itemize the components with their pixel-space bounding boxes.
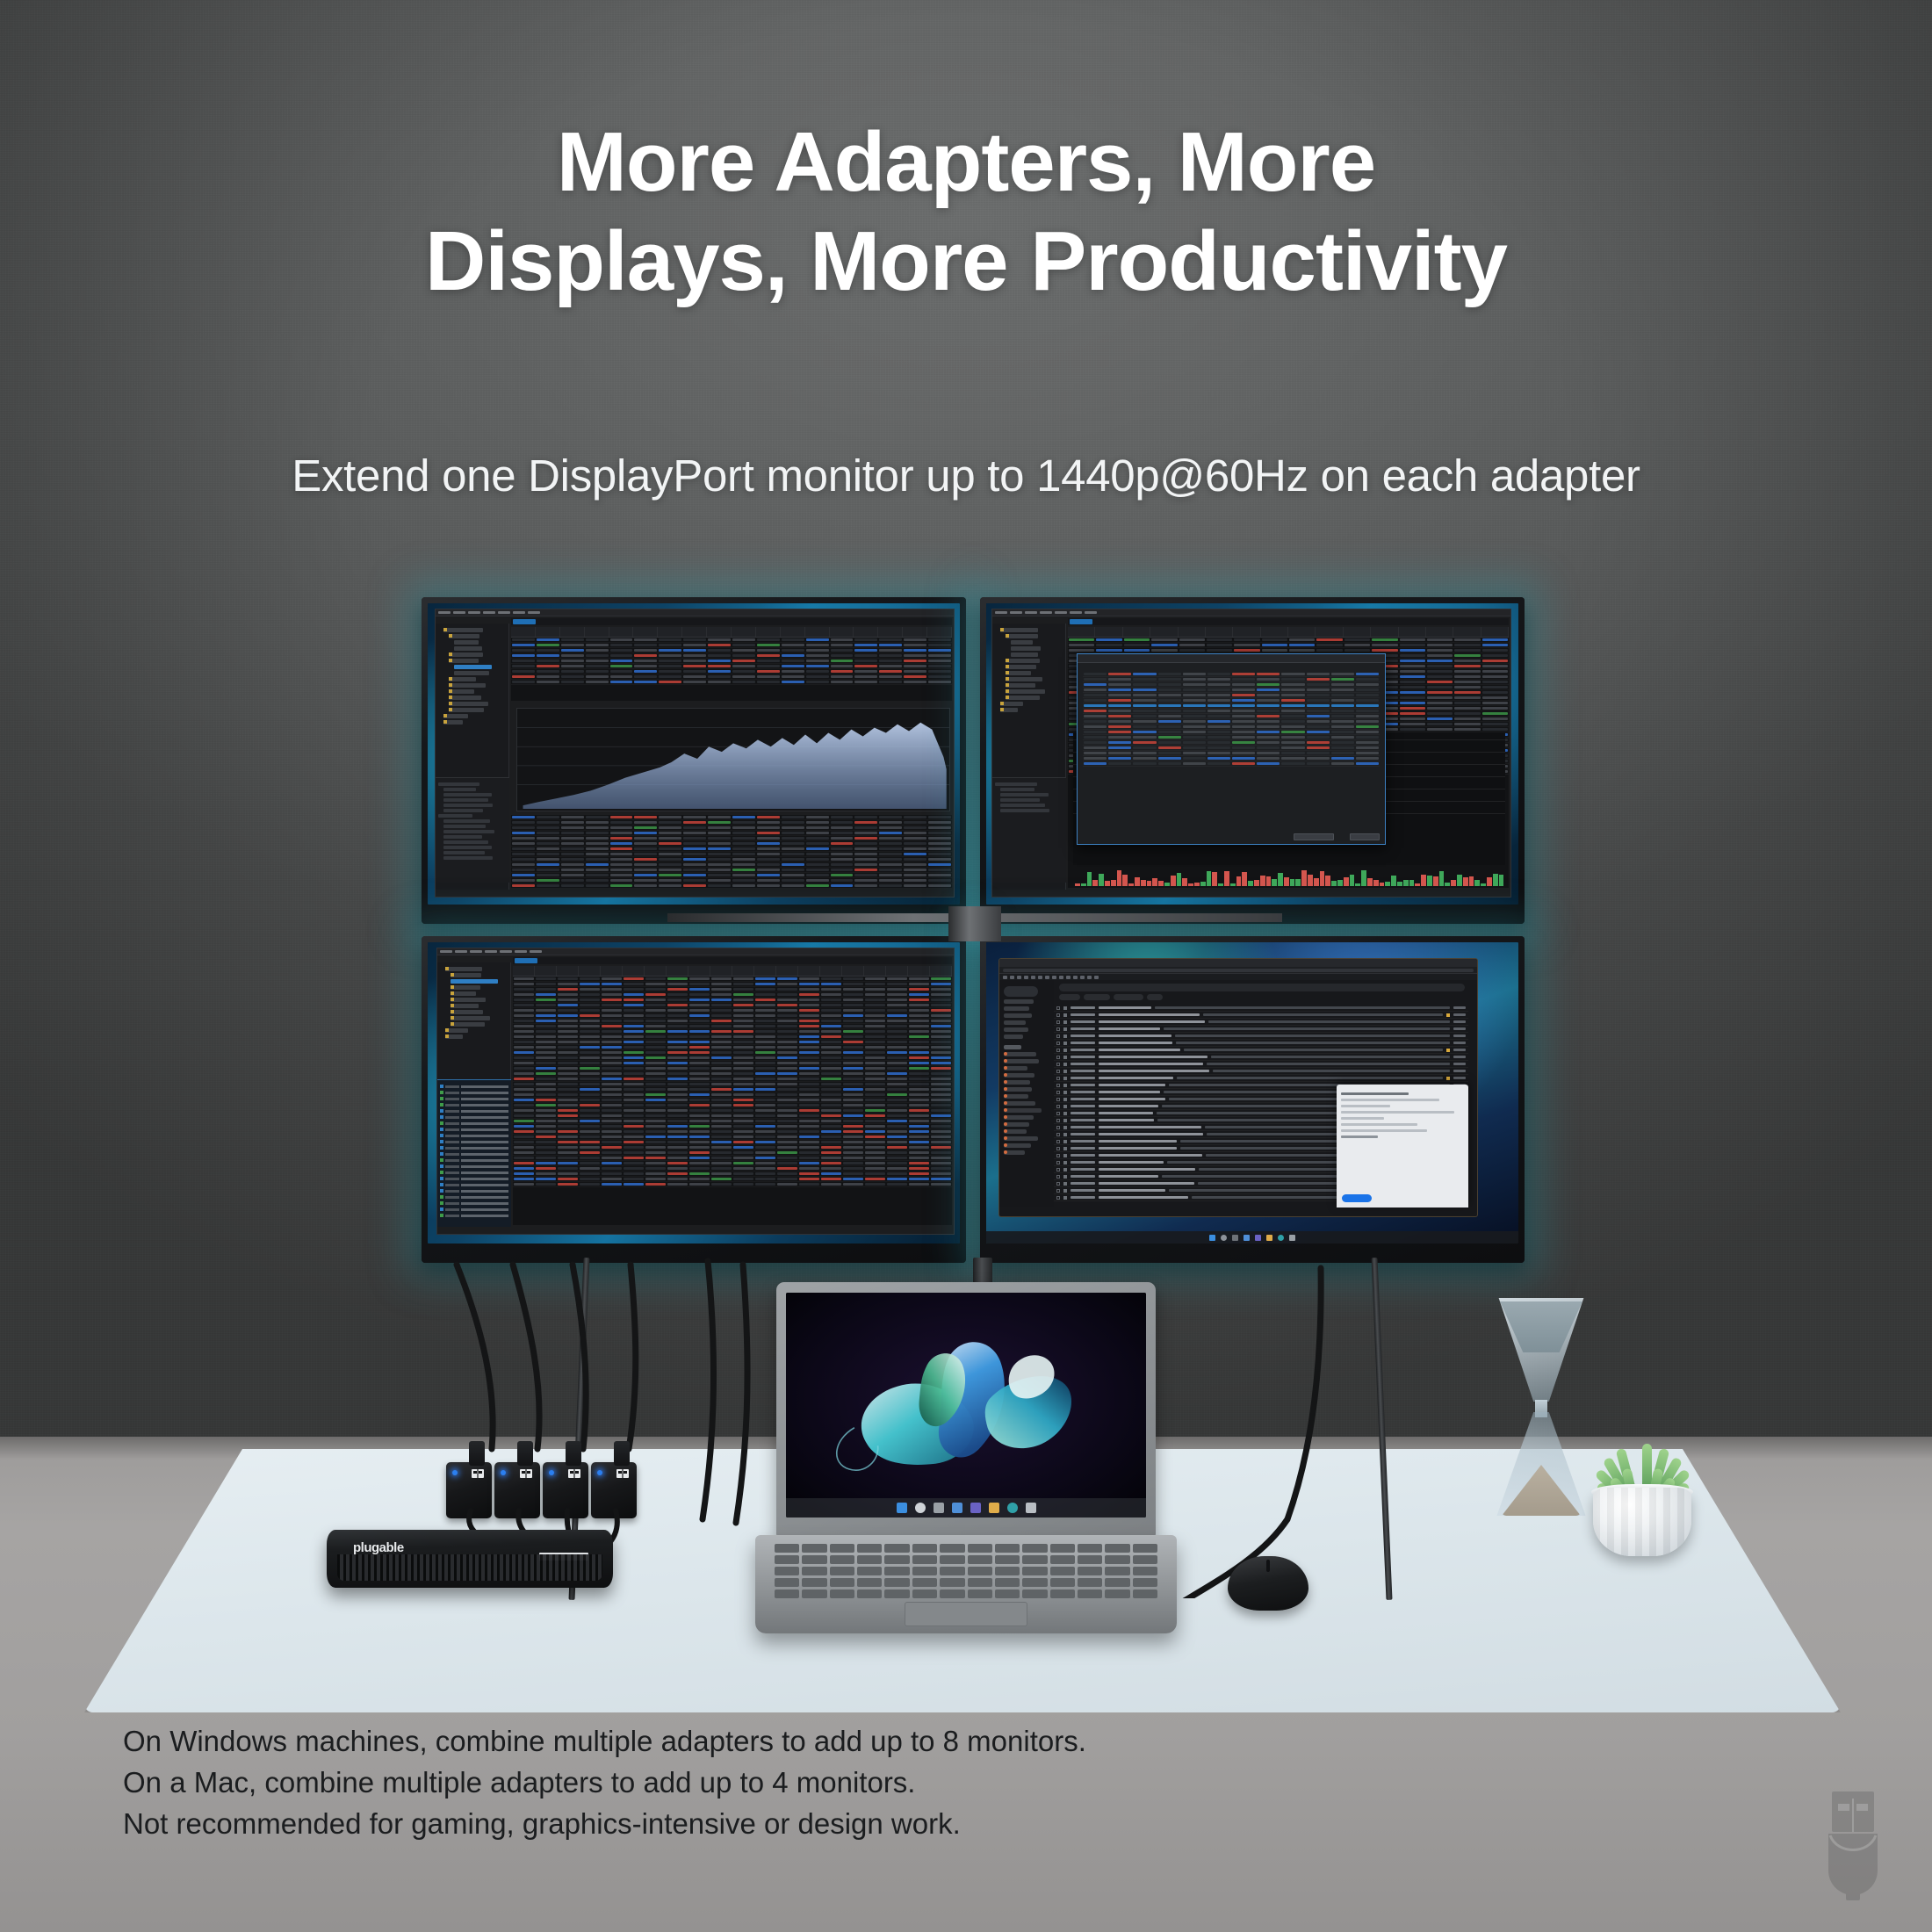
email-row[interactable] [1054, 1068, 1468, 1075]
task-view-icon[interactable] [934, 1503, 944, 1513]
sidebar-label[interactable] [1004, 1122, 1029, 1127]
sidebar-item-inbox[interactable] [1004, 999, 1034, 1004]
app-tabs[interactable] [511, 618, 952, 625]
star-icon[interactable] [1063, 1196, 1067, 1200]
volume-bar [1111, 880, 1116, 886]
attachment-icon [1446, 1077, 1450, 1080]
properties-panel [992, 777, 1066, 883]
sidebar-label[interactable] [1004, 1101, 1035, 1106]
checkbox[interactable] [1056, 1119, 1060, 1122]
positions-grid-bottom[interactable] [511, 815, 952, 888]
sidebar-item-sent[interactable] [1004, 1020, 1026, 1025]
app-tabs[interactable] [1068, 618, 1509, 625]
star-icon[interactable] [1063, 1182, 1067, 1186]
volume-bar [1469, 876, 1474, 886]
log-entry [440, 1127, 508, 1132]
volume-bar [1493, 874, 1498, 886]
volume-bar [1427, 876, 1432, 886]
keyboard-key[interactable] [1105, 1590, 1129, 1598]
volume-bar [1487, 877, 1492, 886]
checkbox[interactable] [1056, 1182, 1060, 1186]
edge-icon[interactable] [1007, 1503, 1018, 1513]
gmail-sidebar[interactable] [999, 980, 1054, 1207]
star-icon[interactable] [1063, 1034, 1067, 1038]
sidebar-label[interactable] [1004, 1087, 1032, 1092]
keyboard-key[interactable] [1022, 1555, 1047, 1564]
keyboard-key[interactable] [802, 1555, 826, 1564]
checkbox[interactable] [1056, 1147, 1060, 1150]
volume-bar [1439, 871, 1445, 886]
sidebar-label[interactable] [1004, 1080, 1030, 1085]
volume-bar [1463, 877, 1468, 886]
sand-hourglass [1493, 1298, 1590, 1535]
email-row[interactable] [1054, 1061, 1468, 1068]
star-icon[interactable] [1063, 1006, 1067, 1010]
keyboard-key[interactable] [912, 1578, 937, 1587]
volume-bar [1337, 880, 1343, 886]
navigator-tree[interactable] [436, 624, 509, 890]
email-row[interactable] [1054, 1026, 1468, 1033]
bookmarks-bar[interactable] [999, 974, 1477, 980]
usb-icon [518, 1467, 534, 1481]
volume-bar [1188, 883, 1193, 886]
checkbox[interactable] [1056, 1105, 1060, 1108]
volume-bar [1128, 883, 1134, 886]
start-icon[interactable] [897, 1503, 907, 1513]
email-row[interactable] [1054, 1019, 1468, 1026]
sidebar-label[interactable] [1004, 1129, 1027, 1134]
volume-bar [1158, 881, 1164, 886]
sender [1071, 1189, 1095, 1192]
table-row[interactable] [1083, 761, 1380, 767]
navigator-tree[interactable] [992, 624, 1066, 890]
sidebar-label[interactable] [1004, 1059, 1039, 1063]
star-icon[interactable] [1063, 1027, 1067, 1031]
keyboard-key[interactable] [802, 1578, 826, 1587]
browser-window-gmail [998, 958, 1478, 1217]
keyboard-key[interactable] [940, 1578, 964, 1587]
checkbox[interactable] [1056, 1154, 1060, 1157]
keyboard-key[interactable] [802, 1567, 826, 1575]
widgets-icon[interactable] [952, 1503, 962, 1513]
checkbox[interactable] [1056, 1175, 1060, 1179]
keyboard-key[interactable] [830, 1555, 854, 1564]
monitor-bezel [980, 597, 1525, 924]
volume-bar [1194, 883, 1200, 886]
sidebar-labels-heading [1004, 1045, 1021, 1049]
keyboard-key[interactable] [830, 1590, 854, 1598]
star-icon[interactable] [1063, 1112, 1067, 1115]
keyboard-key[interactable] [968, 1567, 992, 1575]
checkbox[interactable] [1056, 1168, 1060, 1171]
checkbox[interactable] [1056, 1034, 1060, 1038]
keyboard-key[interactable] [995, 1555, 1020, 1564]
send-button[interactable] [1342, 1194, 1372, 1202]
keyboard-key[interactable] [1078, 1544, 1102, 1553]
sender [1071, 1027, 1095, 1030]
volume-bar [1117, 870, 1122, 886]
star-icon[interactable] [1063, 1168, 1067, 1171]
keyboard-key[interactable] [1133, 1578, 1157, 1587]
keyboard-key[interactable] [968, 1555, 992, 1564]
checkbox[interactable] [1056, 1133, 1060, 1136]
volume-bar [1260, 876, 1265, 886]
keyboard-key[interactable] [857, 1555, 882, 1564]
positions-grid-top[interactable] [511, 627, 952, 701]
keyboard-key[interactable] [1105, 1555, 1129, 1564]
adapter-connector [614, 1441, 630, 1466]
volume-bar [1344, 877, 1349, 886]
keyboard-key[interactable] [995, 1544, 1020, 1553]
usb-connector-icon [1816, 1790, 1890, 1902]
email-row[interactable] [1054, 1005, 1468, 1012]
app-menubar[interactable] [436, 609, 954, 616]
star-icon[interactable] [1063, 1147, 1067, 1150]
keyboard-key[interactable] [1133, 1567, 1157, 1575]
dialog-titlebar[interactable] [1078, 654, 1385, 663]
volume-bar [1105, 881, 1110, 886]
keyboard-key[interactable] [884, 1555, 909, 1564]
keyboard-key[interactable] [1050, 1567, 1075, 1575]
checkbox[interactable] [1056, 1063, 1060, 1066]
checkbox[interactable] [1056, 1126, 1060, 1129]
sender [1071, 1147, 1095, 1150]
sender [1071, 1119, 1095, 1121]
star-icon[interactable] [1063, 1091, 1067, 1094]
keyboard-key[interactable] [775, 1578, 799, 1587]
star-icon[interactable] [1063, 1140, 1067, 1143]
volume-bar [1284, 877, 1289, 886]
sender [1071, 1175, 1095, 1178]
sender [1071, 1006, 1095, 1009]
star-icon[interactable] [1063, 1056, 1067, 1059]
star-icon[interactable] [1063, 1042, 1067, 1045]
file-explorer-icon[interactable] [989, 1503, 999, 1513]
star-icon[interactable] [1063, 1084, 1067, 1087]
volume-bar [1499, 875, 1504, 886]
sidebar-label[interactable] [1004, 1136, 1038, 1141]
volume-bar [1135, 877, 1140, 886]
keyboard-key[interactable] [1133, 1555, 1157, 1564]
log-entry [440, 1213, 508, 1218]
log-entry [440, 1102, 508, 1107]
keyboard-key[interactable] [968, 1544, 992, 1553]
volume-bar [1421, 875, 1426, 886]
log-entry [440, 1121, 508, 1126]
search-filter-chips[interactable] [1059, 994, 1465, 1000]
keyboard-key[interactable] [884, 1544, 909, 1553]
sender [1071, 1140, 1095, 1143]
keyboard-key[interactable] [912, 1567, 937, 1575]
succulent-plant [1586, 1424, 1700, 1558]
browser-tabstrip[interactable] [999, 959, 1477, 967]
white-ceramic-pot [1593, 1488, 1691, 1556]
blue-status-led [501, 1470, 506, 1475]
sidebar-item-more[interactable] [1004, 1034, 1023, 1039]
teams-icon[interactable] [970, 1503, 981, 1513]
email-row[interactable] [1054, 1012, 1468, 1019]
keyboard-key[interactable] [912, 1590, 937, 1598]
app-menubar[interactable] [992, 609, 1510, 616]
email-row[interactable] [1054, 1054, 1468, 1061]
keyboard-key[interactable] [968, 1590, 992, 1598]
volume-bar [1075, 883, 1080, 886]
volume-bar [1092, 880, 1098, 886]
sidebar-label[interactable] [1004, 1052, 1036, 1056]
star-icon[interactable] [1063, 1013, 1067, 1017]
log-entry [440, 1164, 508, 1169]
gmail-search-input[interactable] [1059, 984, 1465, 991]
volume-bar [1320, 871, 1325, 886]
keyboard-key[interactable] [884, 1567, 909, 1575]
keyboard-key[interactable] [830, 1544, 854, 1553]
footnote-line-1: On Windows machines, combine multiple ad… [123, 1721, 1528, 1763]
volume-bar [1373, 880, 1379, 886]
keyboard-key[interactable] [1078, 1567, 1102, 1575]
monitor-bezel [422, 936, 966, 1263]
footnote-line-2: On a Mac, combine multiple adapters to a… [123, 1763, 1528, 1804]
keyboard-key[interactable] [1022, 1578, 1047, 1587]
star-icon[interactable] [1063, 1175, 1067, 1179]
star-icon[interactable] [1063, 1105, 1067, 1108]
sidebar-label-selected[interactable] [1004, 1108, 1042, 1113]
checkbox[interactable] [1056, 1189, 1060, 1193]
keyboard-key[interactable] [1078, 1578, 1102, 1587]
volume-bar [1314, 878, 1319, 886]
log-entry [440, 1182, 508, 1187]
sidebar-item-snoozed[interactable] [1004, 1013, 1032, 1018]
search-icon[interactable] [915, 1503, 926, 1513]
checkbox[interactable] [1056, 1084, 1060, 1087]
volume-bar [1403, 880, 1409, 886]
volume-bar [1391, 876, 1396, 886]
star-icon[interactable] [1063, 1049, 1067, 1052]
checkbox[interactable] [1056, 1161, 1060, 1164]
keyboard-key[interactable] [1105, 1567, 1129, 1575]
table-row[interactable] [513, 1182, 952, 1187]
keyboard-key[interactable] [857, 1590, 882, 1598]
keyboard-key[interactable] [940, 1555, 964, 1564]
wireless-mouse[interactable] [1228, 1556, 1308, 1611]
keyboard-key[interactable] [1022, 1567, 1047, 1575]
keyboard-key[interactable] [802, 1544, 826, 1553]
volume-bar [1230, 883, 1236, 886]
table-row[interactable] [511, 883, 952, 888]
store-icon[interactable] [1026, 1503, 1036, 1513]
volume-bar [1290, 879, 1295, 886]
sender [1071, 1112, 1095, 1114]
checkbox[interactable] [1056, 1091, 1060, 1094]
checkbox[interactable] [1056, 1027, 1060, 1031]
star-icon[interactable] [1063, 1189, 1067, 1193]
keyboard-key[interactable] [1022, 1590, 1047, 1598]
volume-bar [1207, 871, 1212, 886]
monitor-bezel [980, 936, 1525, 1263]
star-icon[interactable] [1063, 1077, 1067, 1080]
keyboard-key[interactable] [857, 1544, 882, 1553]
email-row[interactable] [1054, 1033, 1468, 1040]
keyboard-key[interactable] [775, 1544, 799, 1553]
sender [1071, 1063, 1095, 1065]
checkbox[interactable] [1056, 1098, 1060, 1101]
email-row[interactable] [1054, 1075, 1468, 1082]
star-icon[interactable] [1063, 1070, 1067, 1073]
volume-bar [1164, 883, 1170, 886]
keyboard-key[interactable] [968, 1578, 992, 1587]
volume-bar [1397, 882, 1402, 886]
keyboard-key[interactable] [995, 1567, 1020, 1575]
checkbox[interactable] [1056, 1196, 1060, 1200]
star-icon[interactable] [1063, 1161, 1067, 1164]
sender [1071, 1049, 1095, 1051]
table-row[interactable] [511, 680, 952, 685]
keyboard-key[interactable] [857, 1578, 882, 1587]
import-status-log[interactable] [437, 1079, 511, 1227]
star-icon[interactable] [1063, 1154, 1067, 1157]
email-row[interactable] [1054, 1047, 1468, 1054]
checkbox[interactable] [1056, 1006, 1060, 1010]
laptop-lid [776, 1282, 1156, 1537]
monitor-screen-top-right [986, 603, 1518, 905]
area-chart-svg [517, 709, 949, 811]
keyboard-key[interactable] [940, 1590, 964, 1598]
sender [1071, 1154, 1095, 1157]
email-row[interactable] [1054, 1040, 1468, 1047]
keyboard-key[interactable] [1050, 1544, 1075, 1553]
keyboard-key[interactable] [1050, 1590, 1075, 1598]
log-entry [440, 1151, 508, 1157]
sidebar-item-drafts[interactable] [1004, 1027, 1028, 1032]
keyboard-key[interactable] [1078, 1590, 1102, 1598]
checkbox[interactable] [1056, 1140, 1060, 1143]
checkbox[interactable] [1056, 1056, 1060, 1059]
star-icon[interactable] [1063, 1133, 1067, 1136]
keyboard-key[interactable] [1022, 1544, 1047, 1553]
sidebar-label[interactable] [1004, 1073, 1034, 1078]
volume-bar [1433, 876, 1438, 886]
checkbox[interactable] [1056, 1013, 1060, 1017]
sidebar-label[interactable] [1004, 1115, 1034, 1120]
cancel-button[interactable] [1350, 833, 1380, 840]
volume-bar [1212, 872, 1217, 886]
assign-strategies-button[interactable] [1294, 833, 1334, 840]
adapter-cable-2 [513, 1265, 539, 1449]
keyboard-key[interactable] [830, 1578, 854, 1587]
monitor-stand-center-post [948, 906, 1001, 941]
sender [1071, 1070, 1095, 1072]
keyboard-key[interactable] [1105, 1578, 1129, 1587]
monitor-top-left [422, 597, 966, 924]
keyboard-key[interactable] [940, 1567, 964, 1575]
laptop-keyboard[interactable] [775, 1544, 1157, 1598]
volume-bar [1182, 878, 1187, 886]
checkbox[interactable] [1056, 1020, 1060, 1024]
sidebar-label[interactable] [1004, 1066, 1027, 1071]
keyboard-key[interactable] [995, 1590, 1020, 1598]
volume-bar [1081, 883, 1086, 886]
keyboard-key[interactable] [884, 1590, 909, 1598]
checkbox[interactable] [1056, 1042, 1060, 1045]
keyboard-key[interactable] [802, 1590, 826, 1598]
assign-options-strategies-dialog[interactable] [1077, 653, 1386, 845]
app-menubar[interactable] [437, 948, 954, 955]
laptop-taskbar[interactable] [786, 1498, 1146, 1517]
app-window-open-positions [435, 609, 955, 898]
checkbox[interactable] [1056, 1049, 1060, 1052]
hourglass-sand-top [1500, 1301, 1582, 1352]
monitor-screen-bottom-right [986, 942, 1518, 1244]
sidebar-label[interactable] [1004, 1143, 1031, 1148]
keyboard-key[interactable] [775, 1567, 799, 1575]
checkbox[interactable] [1056, 1070, 1060, 1073]
star-icon[interactable] [1063, 1063, 1067, 1066]
keyboard-key[interactable] [1078, 1555, 1102, 1564]
keyboard-key[interactable] [884, 1578, 909, 1587]
checkbox[interactable] [1056, 1112, 1060, 1115]
star-icon[interactable] [1063, 1098, 1067, 1101]
keyboard-key[interactable] [912, 1555, 937, 1564]
keyboard-key[interactable] [995, 1578, 1020, 1587]
compose-button[interactable] [1004, 986, 1038, 997]
sidebar-item-starred[interactable] [1004, 1006, 1029, 1011]
plugable-usb-dock[interactable]: plugable [327, 1530, 613, 1588]
keyboard-key[interactable] [775, 1555, 799, 1564]
volume-bar [1122, 875, 1128, 886]
monitor-array [422, 597, 1528, 1265]
keyboard-key[interactable] [1133, 1590, 1157, 1598]
checkbox[interactable] [1056, 1077, 1060, 1080]
sender [1071, 1056, 1095, 1058]
keyboard-key[interactable] [1105, 1544, 1129, 1553]
compose-window[interactable] [1337, 1085, 1468, 1207]
running-pl-area-chart [516, 708, 950, 811]
sender [1071, 1126, 1095, 1128]
log-entry [440, 1145, 508, 1150]
keyboard-key[interactable] [1050, 1578, 1075, 1587]
keyboard-key[interactable] [830, 1567, 854, 1575]
trade-blotter-grid[interactable] [513, 966, 952, 1225]
volume-bar [1451, 880, 1456, 886]
volume-bar [1415, 883, 1420, 886]
keyboard-key[interactable] [940, 1544, 964, 1553]
volume-bar [1171, 876, 1176, 886]
browser-address-bar[interactable] [999, 967, 1477, 974]
attachment-icon [1446, 1013, 1450, 1017]
laptop-trackpad[interactable] [905, 1602, 1027, 1626]
sender [1071, 1084, 1095, 1086]
app-window-instruments [991, 609, 1511, 898]
log-entry [440, 1108, 508, 1114]
log-entry [440, 1096, 508, 1101]
windows-11-bloom-wallpaper [786, 1293, 1146, 1517]
adapter-connector [517, 1441, 533, 1466]
app-tabs[interactable] [513, 957, 952, 964]
star-icon[interactable] [1063, 1119, 1067, 1122]
app-window-trade-blotter [436, 948, 955, 1235]
volume-bar [1361, 870, 1366, 886]
star-icon[interactable] [1063, 1126, 1067, 1129]
keyboard-key[interactable] [857, 1567, 882, 1575]
star-icon[interactable] [1063, 1020, 1067, 1024]
keyboard-key[interactable] [1050, 1555, 1075, 1564]
sidebar-label[interactable] [1004, 1094, 1028, 1099]
log-entry [440, 1114, 508, 1120]
keyboard-key[interactable] [1133, 1544, 1157, 1553]
sidebar-label[interactable] [1004, 1150, 1025, 1155]
keyboard-key[interactable] [775, 1590, 799, 1598]
usb-icon [470, 1467, 486, 1481]
keyboard-key[interactable] [912, 1544, 937, 1553]
